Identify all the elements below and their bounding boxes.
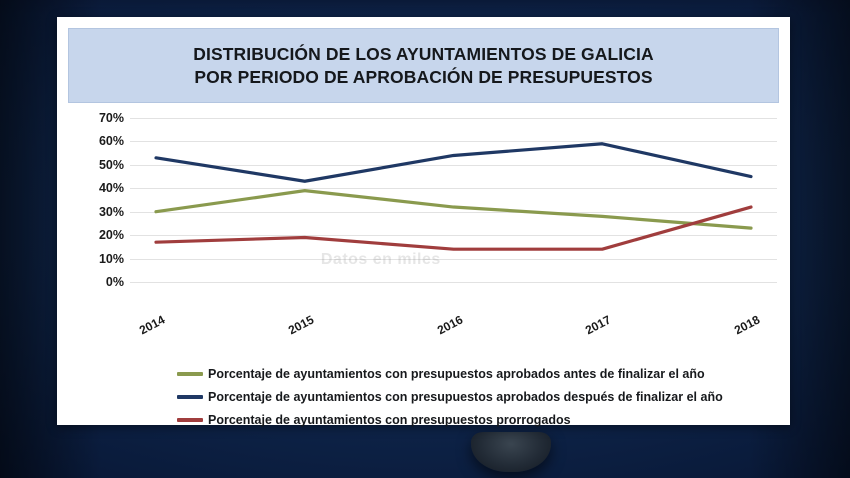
plot-area: 0%10%20%30%40%50%60%70% Datos en miles bbox=[68, 109, 779, 319]
series-line-3 bbox=[156, 207, 751, 249]
legend-item-1[interactable]: Porcentaje de ayuntamientos con presupue… bbox=[177, 362, 777, 385]
legend-swatch-icon bbox=[177, 372, 203, 376]
page-title-line-2: POR PERIODO DE APROBACIÓN DE PRESUPUESTO… bbox=[194, 66, 652, 89]
chart-legend: Porcentaje de ayuntamientos con presupue… bbox=[177, 362, 777, 431]
series-line-2 bbox=[156, 144, 751, 181]
x-axis-tick-2016: 2016 bbox=[435, 312, 465, 337]
x-axis-tick-2017: 2017 bbox=[583, 312, 613, 337]
legend-item-label: Porcentaje de ayuntamientos con presupue… bbox=[208, 390, 723, 404]
series-line-1 bbox=[156, 191, 751, 228]
x-axis-tick-2015: 2015 bbox=[286, 312, 316, 337]
x-axis-tick-2018: 2018 bbox=[732, 312, 762, 337]
chart-watermark: Datos en miles bbox=[321, 251, 441, 269]
chart-title-banner: DISTRIBUCIÓN DE LOS AYUNTAMIENTOS DE GAL… bbox=[68, 28, 779, 103]
chart-card: DISTRIBUCIÓN DE LOS AYUNTAMIENTOS DE GAL… bbox=[57, 17, 790, 425]
chart-lines bbox=[68, 109, 779, 319]
legend-item-3[interactable]: Porcentaje de ayuntamientos con presupue… bbox=[177, 408, 777, 431]
x-axis-labels: 20142015201620172018 bbox=[130, 317, 780, 357]
legend-swatch-icon bbox=[177, 395, 203, 399]
monitor-stand bbox=[471, 432, 551, 472]
legend-swatch-icon bbox=[177, 418, 203, 422]
legend-item-2[interactable]: Porcentaje de ayuntamientos con presupue… bbox=[177, 385, 777, 408]
page-title-line-1: DISTRIBUCIÓN DE LOS AYUNTAMIENTOS DE GAL… bbox=[193, 43, 653, 66]
legend-item-label: Porcentaje de ayuntamientos con presupue… bbox=[208, 413, 571, 427]
x-axis-tick-2014: 2014 bbox=[137, 312, 167, 337]
monitor-screen: DISTRIBUCIÓN DE LOS AYUNTAMIENTOS DE GAL… bbox=[0, 0, 850, 478]
legend-item-label: Porcentaje de ayuntamientos con presupue… bbox=[208, 367, 705, 381]
screen-top-glow bbox=[0, 0, 850, 14]
